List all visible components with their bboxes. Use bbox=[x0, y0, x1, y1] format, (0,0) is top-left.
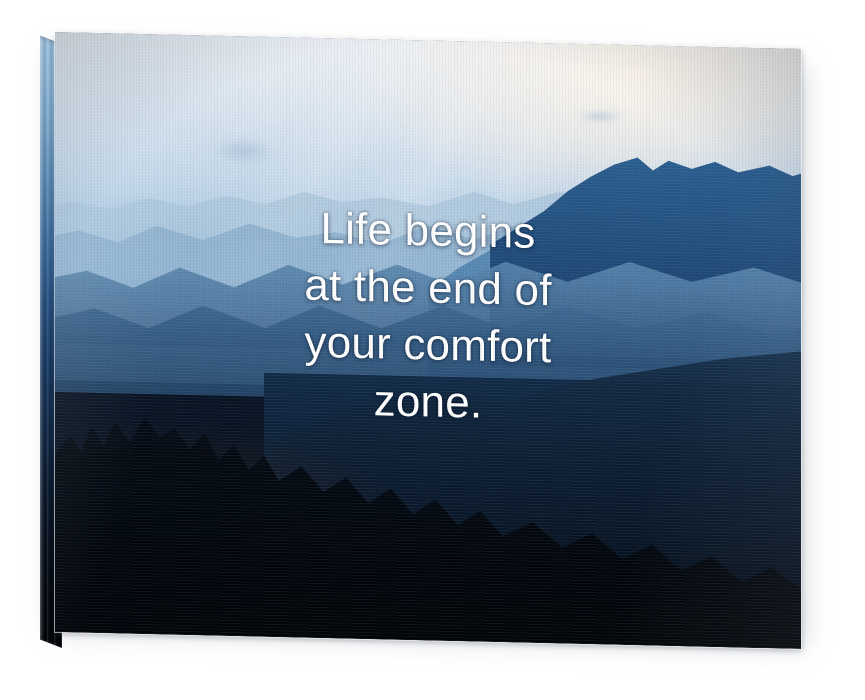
product-mockup-stage: Life begins at the end of your comfort z… bbox=[0, 0, 865, 700]
artwork-image: Life begins at the end of your comfort z… bbox=[55, 32, 801, 649]
canvas-print-face[interactable]: Life begins at the end of your comfort z… bbox=[55, 32, 801, 649]
